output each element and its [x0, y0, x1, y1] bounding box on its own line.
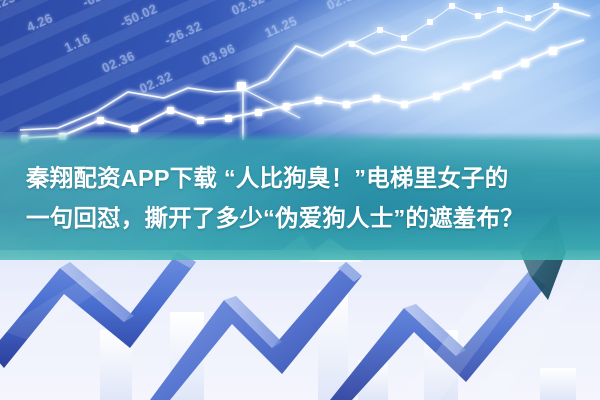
ticker-number: 02.36 [99, 48, 137, 76]
headline-text: 秦翔配资APP下载 “人比狗臭！”电梯里女子的 一句回怼，撕开了多少“伪爱狗人士… [26, 158, 578, 238]
ticker-number: 02.32 [137, 68, 175, 96]
ticker-number: 1.16 [62, 30, 93, 55]
headline-line-2: 一句回怼，撕开了多少“伪爱狗人士”的遮羞布？ [26, 198, 578, 238]
headline-line-1: 秦翔配资APP下载 “人比狗臭！”电梯里女子的 [26, 158, 578, 198]
ticker-number: -50.02 [117, 0, 159, 30]
ticker-number: -26.32 [162, 18, 204, 48]
ticker-number: 11.25 [262, 13, 299, 40]
ticker-number: 1.25 [0, 0, 17, 14]
lower-light-field [0, 250, 600, 400]
ticker-number: 02.32 [229, 0, 267, 18]
ticker-number: 03.96 [200, 40, 238, 68]
ticker-number: 02.36 [324, 0, 362, 12]
stock-market-banner-image: -09.02-08.35-11.2545.0221.36-09.02-08.35… [0, 0, 600, 400]
ticker-number: 4.26 [24, 10, 55, 35]
